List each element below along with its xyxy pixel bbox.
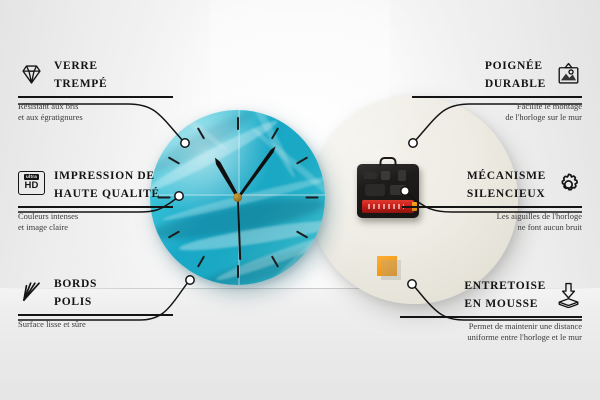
feature-title: MÉCANISME SILENCIEUX [467, 166, 546, 202]
mechanism-detail [364, 172, 377, 179]
hd-main-label: HD [24, 181, 38, 191]
feature-header: ENTRETOISE EN MOUSSE [400, 276, 582, 312]
feature-header: POIGNÉE DURABLE [412, 56, 582, 92]
diamond-icon [18, 61, 45, 88]
feature-description-line1: Facilite le montage [412, 101, 582, 112]
feature-divider [18, 96, 173, 98]
hour-tick [238, 197, 326, 199]
feature-header: MÉCANISME SILENCIEUX [402, 166, 582, 202]
feature-divider [18, 206, 173, 208]
feature-description-line2: et image claire [18, 222, 173, 233]
feature-title: POIGNÉE DURABLE [485, 56, 546, 92]
feature-divider [400, 316, 582, 318]
feature-title: IMPRESSION DE HAUTE QUALITÉ [54, 166, 160, 202]
feature-header: BORDS POLIS [18, 274, 173, 310]
feature-description-line1: Résistant aux bris [18, 101, 173, 112]
picture-hanger-icon [555, 61, 582, 88]
feature-description-line1: Permet de maintenir une distance [400, 321, 582, 332]
gear-icon [555, 171, 582, 198]
feature-mecanisme-silencieux[interactable]: MÉCANISME SILENCIEUX Les aiguilles de l'… [402, 166, 582, 233]
mechanism-hanger-tab [380, 157, 397, 166]
feature-impression-haute-qualite[interactable]: ultra HD IMPRESSION DE HAUTE QUALITÉ Cou… [18, 166, 173, 233]
feature-poignee-durable[interactable]: POIGNÉE DURABLE Facilite le montage de l… [412, 56, 582, 123]
clock-front-view [150, 110, 325, 285]
mechanism-detail [381, 171, 390, 180]
ultra-hd-icon: ultra HD [18, 171, 45, 198]
feature-title: VERRE TREMPÉ [54, 56, 107, 92]
feature-divider [412, 96, 582, 98]
mechanism-detail [365, 184, 385, 196]
feature-header: ultra HD IMPRESSION DE HAUTE QUALITÉ [18, 166, 173, 202]
feature-description-line2: ne font aucun bruit [402, 222, 582, 233]
feature-description-line1: Les aiguilles de l'horloge [402, 211, 582, 222]
infographic-canvas: VERRE TREMPÉ Résistant aux bris et aux é… [0, 0, 600, 400]
feature-description-line2: uniforme entre l'horloge et le mur [400, 332, 582, 343]
feature-bords-polis[interactable]: BORDS POLIS Surface lisse et sûre [18, 274, 173, 330]
foam-spacer [377, 256, 397, 276]
hands-center-cap [233, 193, 242, 202]
feature-description-line2: de l'horloge sur le mur [412, 112, 582, 123]
hour-tick [237, 110, 239, 198]
hd-badge: ultra HD [18, 171, 45, 195]
feature-entretoise-en-mousse[interactable]: ENTRETOISE EN MOUSSE Permet de maintenir… [400, 276, 582, 343]
feature-title: BORDS POLIS [54, 274, 97, 310]
feature-header: VERRE TREMPÉ [18, 56, 173, 92]
feature-description-line2: et aux égratignures [18, 112, 173, 123]
feature-divider [402, 206, 582, 208]
battery-label [368, 204, 404, 209]
feature-divider [18, 314, 173, 316]
feature-verre-trempe[interactable]: VERRE TREMPÉ Résistant aux bris et aux é… [18, 56, 173, 123]
feature-description-line1: Couleurs intenses [18, 211, 173, 222]
foam-spacer-icon [555, 281, 582, 308]
feature-title: ENTRETOISE EN MOUSSE [464, 276, 546, 312]
feature-description-line1: Surface lisse et sûre [18, 319, 173, 330]
polished-edges-icon [18, 279, 45, 306]
